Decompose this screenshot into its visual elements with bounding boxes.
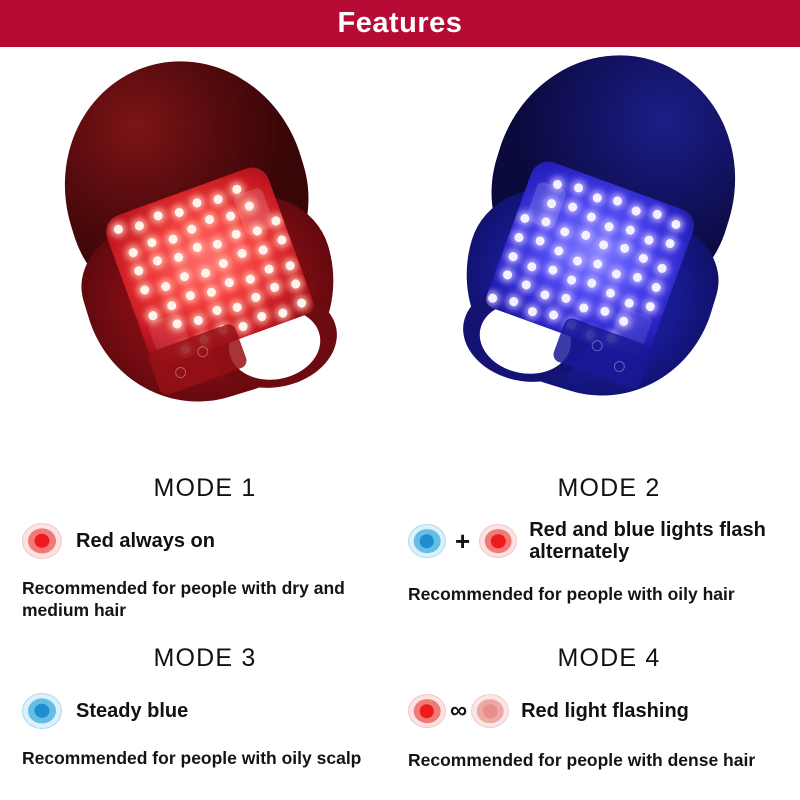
mode-2-description: Recommended for people with oily hair: [400, 583, 800, 605]
led-dot: [277, 307, 289, 319]
led-dot: [199, 268, 211, 280]
led-dot: [539, 289, 551, 301]
modes-grid: MODE 1 Red always on Recommended for peo…: [0, 462, 800, 800]
led-dot: [618, 316, 630, 328]
mode-3-description: Recommended for people with oily scalp: [0, 747, 400, 769]
mode-3-title: MODE 3: [0, 632, 400, 671]
led-dot: [258, 244, 270, 256]
blue-light-icon: [408, 524, 446, 558]
led-dot: [185, 223, 197, 235]
led-dot: [127, 247, 139, 259]
icon-core: [420, 704, 434, 718]
led-dot: [664, 237, 676, 249]
mode-1-title: MODE 1: [0, 462, 400, 501]
led-dot: [559, 226, 571, 238]
led-dot: [218, 258, 230, 270]
led-dot: [256, 311, 268, 323]
blue-cap-illustration: [428, 21, 781, 415]
led-dot: [192, 197, 204, 209]
led-dot: [643, 234, 655, 246]
led-dot: [173, 252, 185, 264]
mode-card-1: MODE 1 Red always on Recommended for peo…: [0, 462, 400, 632]
led-dot: [192, 315, 204, 327]
led-dot: [152, 255, 164, 267]
red-light-icon: [408, 694, 446, 728]
led-dot: [645, 301, 657, 313]
mode-1-icons: [22, 523, 62, 559]
led-dot: [611, 268, 623, 280]
led-dot: [519, 213, 531, 225]
led-dot: [171, 318, 183, 330]
plus-icon: +: [455, 528, 470, 554]
led-dot: [547, 309, 559, 321]
mode-1-row: Red always on: [0, 515, 400, 567]
features-banner: Features: [0, 0, 800, 47]
led-dot: [166, 300, 178, 312]
led-dot: [578, 303, 590, 315]
led-dot: [113, 224, 125, 236]
led-dot: [184, 290, 196, 302]
led-dot: [507, 251, 519, 263]
led-dot: [204, 213, 216, 225]
led-dot: [147, 310, 159, 322]
led-dot: [211, 305, 223, 317]
led-dot: [631, 205, 643, 217]
red-light-dim-icon: [471, 694, 509, 728]
led-dot: [231, 184, 243, 196]
led-dot: [566, 274, 578, 286]
led-dot: [212, 239, 224, 251]
mode-4-icons: ∞: [408, 694, 509, 728]
mode-3-row: Steady blue: [0, 685, 400, 737]
mode-3-icons: [22, 693, 62, 729]
led-dot: [508, 296, 520, 308]
features-page: Features: [0, 0, 800, 800]
led-dot: [167, 233, 179, 245]
mode-4-row: ∞ Red light flashing: [400, 685, 800, 737]
mode-2-title: MODE 2: [400, 462, 800, 501]
led-dot: [625, 224, 637, 236]
led-dot: [632, 272, 644, 284]
mode-2-label: Red and blue lights flash alternately: [529, 519, 800, 564]
mode-3-label: Steady blue: [76, 700, 188, 722]
led-dot: [146, 237, 158, 249]
red-cap-illustration: [20, 27, 373, 421]
mode-4-label: Red light flashing: [521, 700, 689, 722]
led-dot: [612, 195, 624, 207]
led-dot: [546, 197, 558, 209]
red-cap-photo: [0, 47, 400, 462]
led-dot: [213, 194, 225, 206]
led-dot: [624, 297, 636, 309]
led-dot: [238, 321, 250, 333]
page-title: Features: [338, 9, 463, 38]
led-dot: [245, 273, 257, 285]
led-dot: [152, 210, 164, 222]
led-dot: [232, 302, 244, 314]
power-button-icon: [174, 365, 188, 379]
led-dot: [587, 277, 599, 289]
led-dot: [605, 287, 617, 299]
led-dot: [592, 258, 604, 270]
led-dot: [252, 225, 264, 237]
mode-card-2: MODE 2 + Red and blue lights flash: [400, 462, 800, 632]
power-button-icon: [612, 359, 626, 373]
icon-core: [420, 534, 434, 548]
led-dot: [224, 276, 236, 288]
mode-1-description: Recommended for people with dry and medi…: [0, 577, 400, 622]
red-light-icon: [479, 524, 517, 558]
led-dot: [139, 284, 151, 296]
led-dot: [573, 182, 585, 194]
led-dot: [284, 260, 296, 272]
led-dot: [638, 253, 650, 265]
led-dot: [591, 192, 603, 204]
product-photos: [0, 47, 800, 462]
mode-2-icons: +: [408, 524, 517, 558]
led-dot: [540, 216, 552, 228]
blue-cap-photo: [400, 47, 800, 462]
led-dot: [290, 278, 302, 290]
led-dot: [650, 282, 662, 294]
mode-button-icon: [590, 339, 604, 353]
led-dot: [191, 242, 203, 254]
red-light-icon: [22, 523, 62, 559]
led-dot: [656, 263, 668, 275]
mode-4-description: Recommended for people with dense hair: [400, 749, 800, 771]
led-dot: [560, 293, 572, 305]
led-dot: [178, 271, 190, 283]
led-dot: [225, 210, 237, 222]
blue-light-icon: [22, 693, 62, 729]
led-dot: [599, 306, 611, 318]
led-dot: [534, 235, 546, 247]
led-dot: [244, 200, 256, 212]
led-dot: [173, 207, 185, 219]
icon-core: [483, 704, 497, 718]
led-dot: [520, 279, 532, 291]
led-dot: [502, 269, 514, 281]
led-dot: [567, 201, 579, 213]
led-dot: [231, 229, 243, 241]
mode-2-row: + Red and blue lights flash alternately: [400, 515, 800, 567]
led-dot: [160, 281, 172, 293]
led-dot: [552, 179, 564, 191]
infinity-icon: ∞: [450, 699, 467, 723]
led-dot: [598, 240, 610, 252]
led-dot: [571, 255, 583, 267]
led-dot: [251, 292, 263, 304]
mode-card-4: MODE 4 ∞ Red light flashing: [400, 632, 800, 800]
mode-button-icon: [196, 345, 210, 359]
mode-card-3: MODE 3 Steady blue Recommended for peopl…: [0, 632, 400, 800]
led-dot: [547, 264, 559, 276]
led-dot: [205, 286, 217, 298]
led-dot: [487, 292, 499, 304]
led-dot: [526, 261, 538, 273]
led-dot: [670, 219, 682, 231]
led-dot: [580, 230, 592, 242]
led-dot: [134, 220, 146, 232]
led-dot: [604, 221, 616, 233]
led-dot: [652, 209, 664, 221]
led-dot: [296, 297, 308, 309]
mode-4-title: MODE 4: [400, 632, 800, 671]
icon-core: [491, 534, 505, 548]
led-dot: [585, 211, 597, 223]
led-dot: [263, 263, 275, 275]
led-dot: [526, 306, 538, 318]
led-dot: [619, 243, 631, 255]
led-dot: [270, 215, 282, 227]
led-dot: [276, 234, 288, 246]
led-dot: [133, 265, 145, 277]
mode-1-label: Red always on: [76, 530, 215, 552]
led-dot: [237, 248, 249, 260]
led-dot: [553, 245, 565, 257]
led-dot: [513, 232, 525, 244]
led-dot: [269, 282, 281, 294]
